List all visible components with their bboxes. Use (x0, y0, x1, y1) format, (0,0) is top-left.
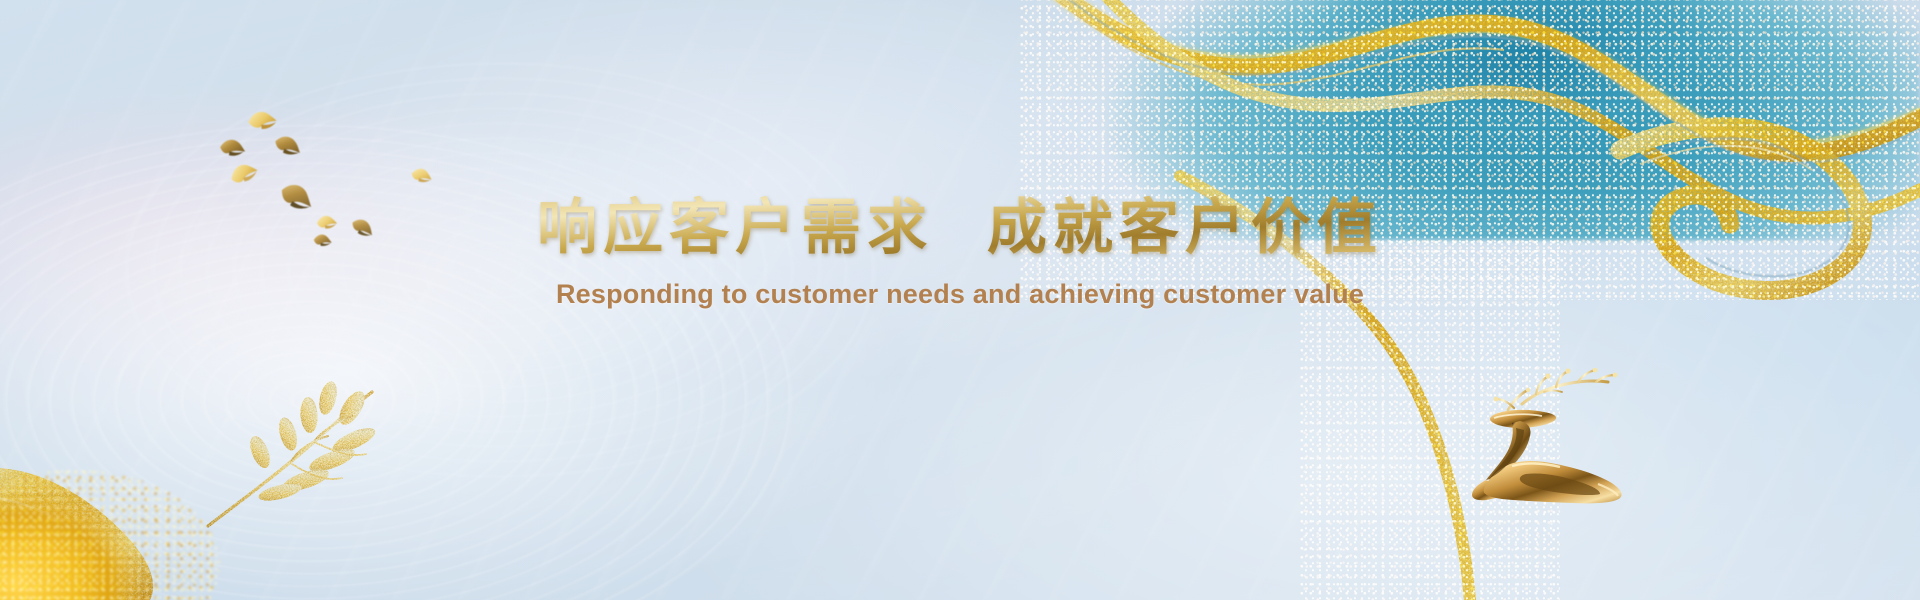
banner-text-block: 响应客户需求 成就客户价值 Responding to customer nee… (0, 196, 1920, 310)
banner-headline: 响应客户需求 成就客户价值 (0, 196, 1920, 261)
banner-subheadline: Responding to customer needs and achievi… (0, 279, 1920, 310)
gold-glitter-speckle-bottom-left (0, 470, 220, 600)
gold-glitter-corner-bottom-left (0, 470, 220, 600)
hero-banner: 响应客户需求 成就客户价值 Responding to customer nee… (0, 0, 1920, 600)
